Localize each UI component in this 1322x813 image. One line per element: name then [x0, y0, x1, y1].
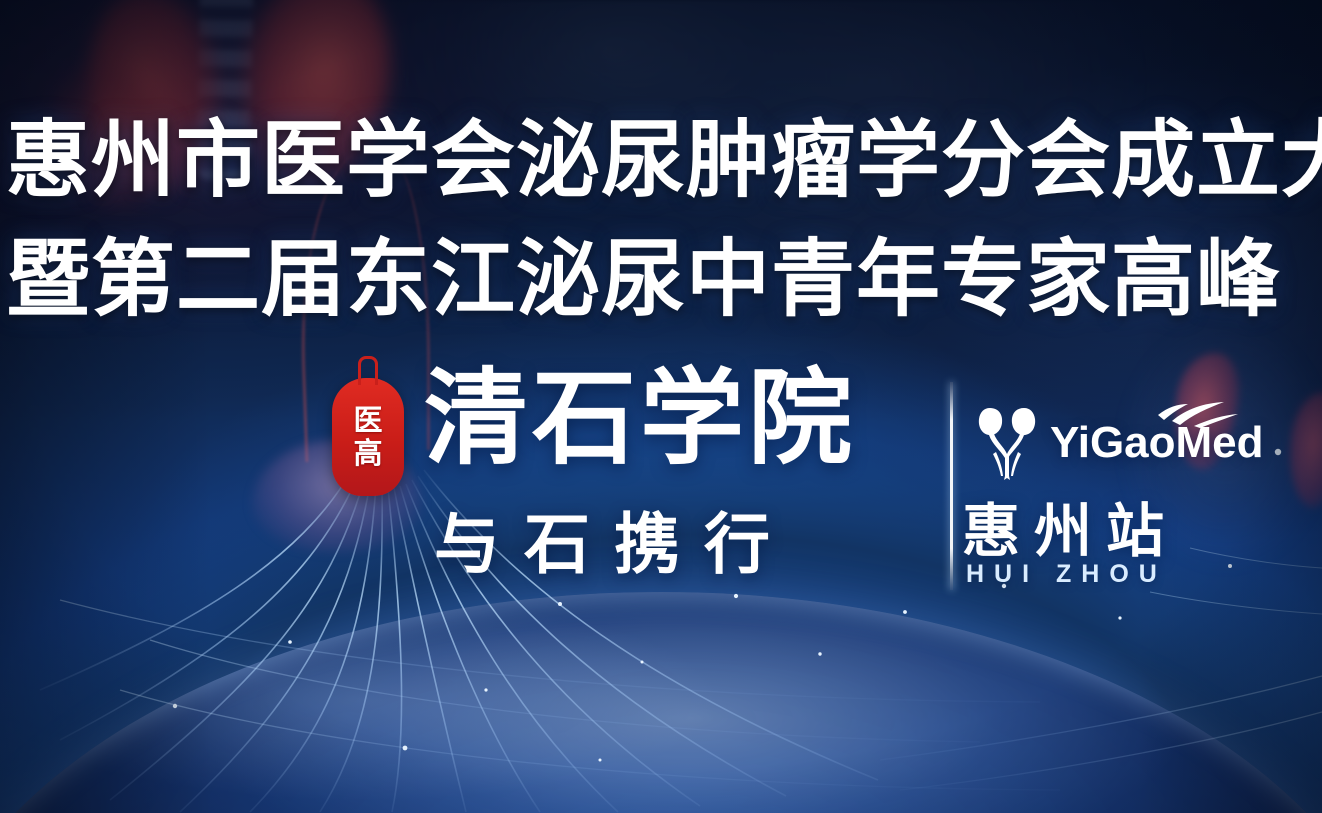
banner-poster: 惠州市医学会泌尿肿瘤学分会成立大 暨第二届东江泌尿中青年专家高峰 医 高 清石学…	[0, 0, 1322, 813]
section-divider	[950, 382, 953, 590]
event-title-line-1: 惠州市医学会泌尿肿瘤学分会成立大	[6, 118, 1322, 202]
academy-slogan: 与石携行	[434, 512, 794, 578]
station-name: 惠州站	[962, 502, 1178, 560]
kidney-logo-icon	[974, 404, 1040, 482]
seal-char-bottom: 高	[353, 439, 382, 468]
seal-char-top: 医	[353, 406, 382, 435]
academy-seal-badge: 医 高	[332, 378, 404, 496]
sponsor-logo: YiGaoMed	[974, 404, 1264, 482]
academy-name: 清石学院	[424, 366, 856, 470]
event-title-line-2: 暨第二届东江泌尿中青年专家高峰	[6, 237, 1281, 321]
swoosh-icon	[1154, 399, 1240, 429]
station-pinyin: HUI ZHOU	[966, 562, 1167, 587]
